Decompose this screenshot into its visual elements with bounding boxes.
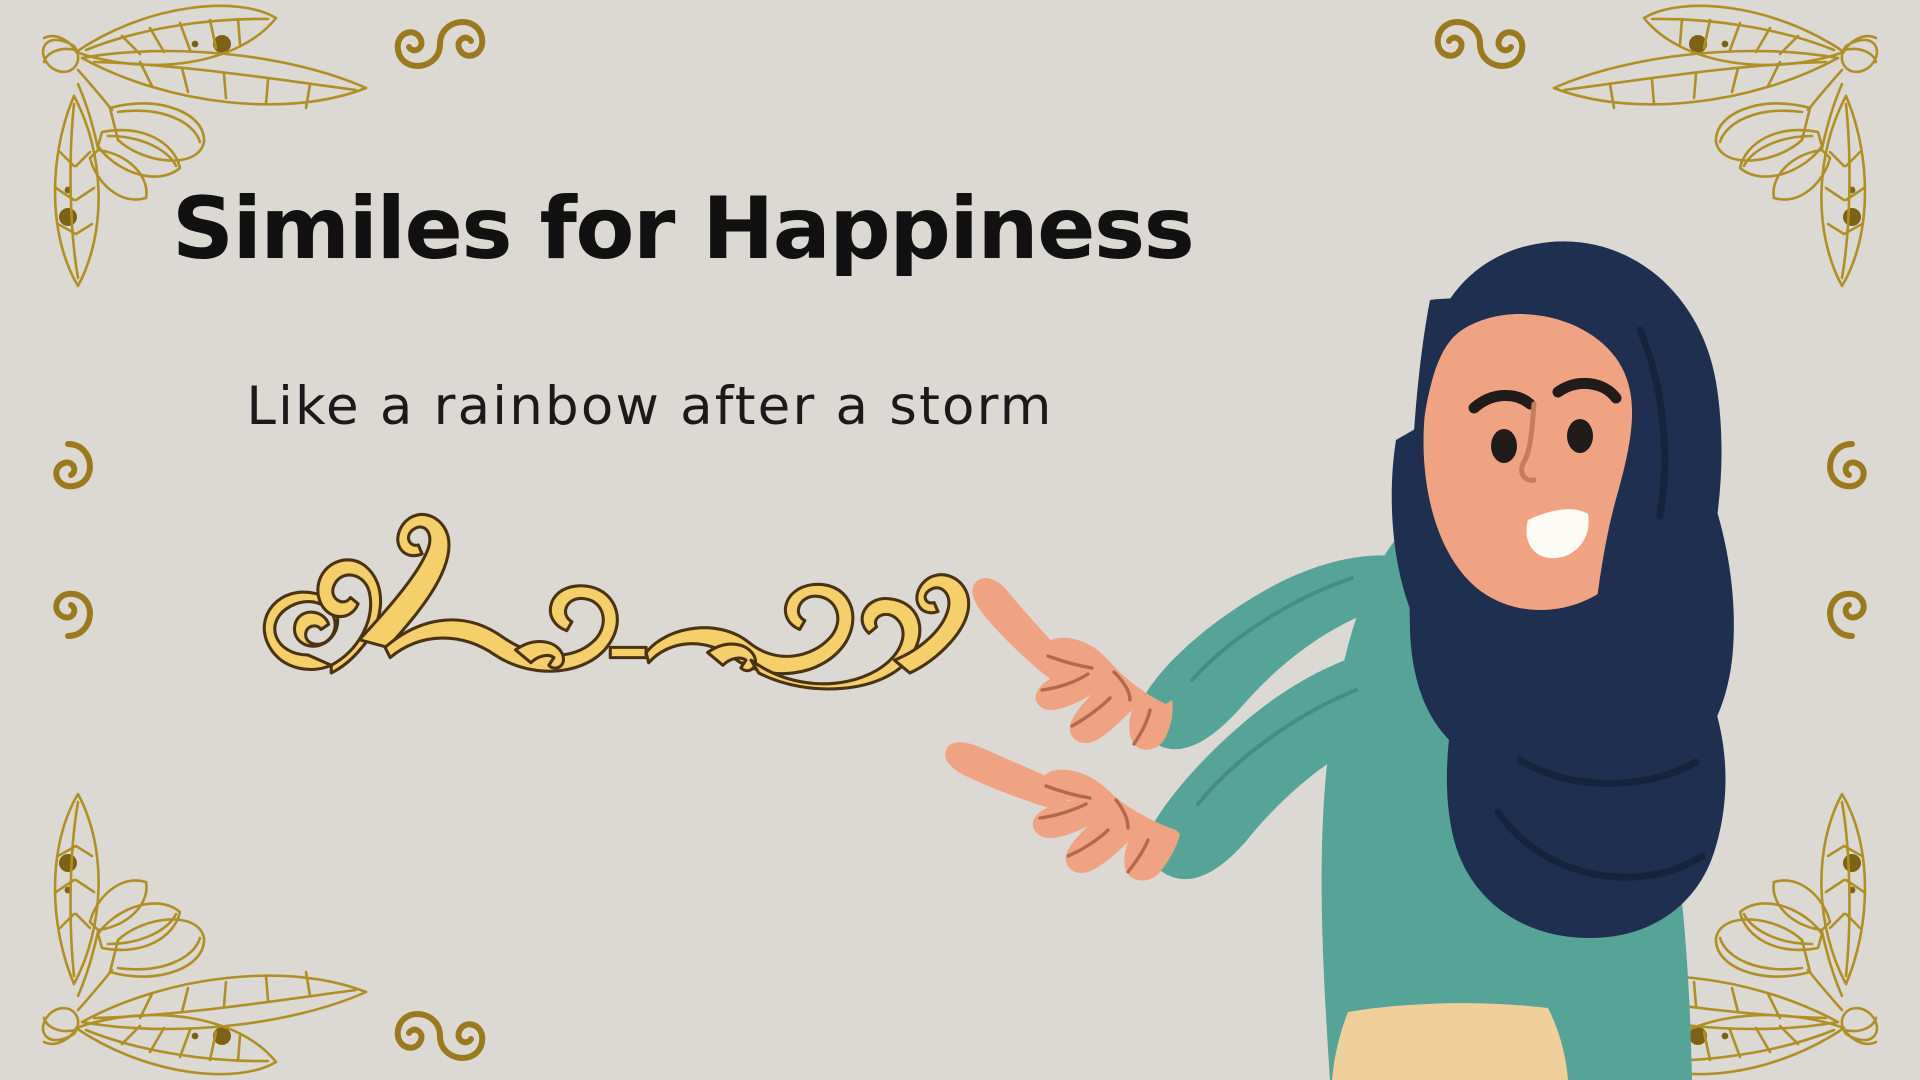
nose xyxy=(1522,404,1534,480)
simile-line-2: storm xyxy=(889,376,1053,437)
ornament-divider-flourish xyxy=(264,514,968,689)
hijab-drape xyxy=(1409,298,1733,790)
hijab-cowl xyxy=(1447,628,1726,938)
ornament-corner-top-right xyxy=(1438,6,1877,486)
smile xyxy=(1526,509,1588,558)
divider-layer xyxy=(0,0,1920,1080)
skirt-beige xyxy=(1332,1003,1568,1080)
ornament-corner-bottom-left xyxy=(43,594,482,1074)
eyebrow-left xyxy=(1474,395,1530,408)
shirt-sleeve-lower xyxy=(1147,648,1424,879)
ornament-corner-bottom-right xyxy=(1438,594,1877,1074)
simile-line-1: Like a rainbow after a xyxy=(246,376,870,437)
hand-upper-pointing xyxy=(972,578,1172,750)
illustration-woman-pointing xyxy=(0,0,1920,1080)
ornament-frame-layer xyxy=(0,0,1920,1080)
shirt-sleeve-upper xyxy=(1140,552,1425,749)
hijab-front xyxy=(1423,241,1722,742)
eyebrow-right xyxy=(1558,383,1616,398)
neck xyxy=(1470,452,1582,552)
eye-left xyxy=(1491,429,1517,463)
woman-figure xyxy=(945,241,1734,1080)
face xyxy=(1423,297,1656,610)
simile-text: Like a rainbow after a storm xyxy=(210,370,1090,443)
eye-right xyxy=(1567,419,1593,453)
page-title: Similes for Happiness xyxy=(172,186,1292,272)
slide-canvas: Similes for Happiness Like a rainbow aft… xyxy=(0,0,1920,1080)
shirt-body xyxy=(1322,540,1692,1080)
hand-lower-pointing xyxy=(945,742,1180,880)
